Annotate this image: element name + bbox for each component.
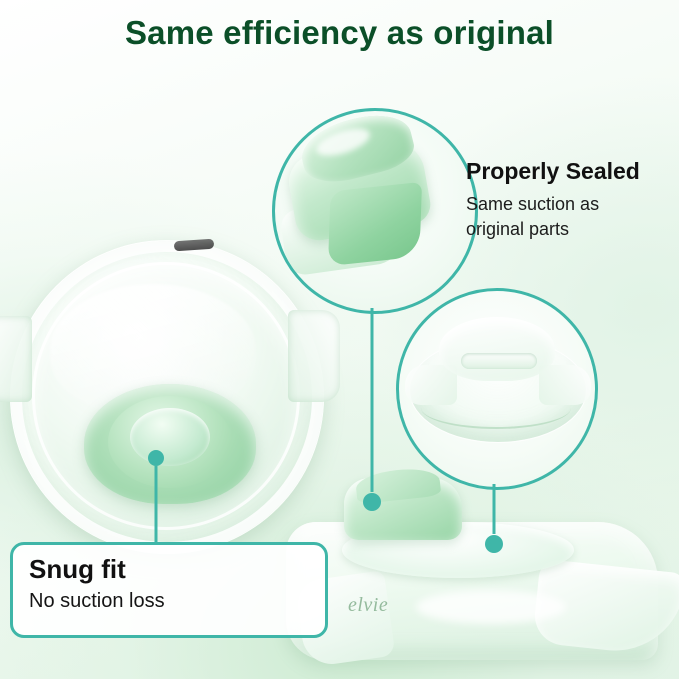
- connector-dome: [439, 317, 555, 381]
- silicone-valve-core: [130, 408, 210, 466]
- brand-logo: elvie: [348, 594, 388, 617]
- zoom-circle-clear-connector: [396, 288, 598, 490]
- callout-heading-properly-sealed: Properly Sealed: [466, 158, 676, 184]
- shield-tab-left: [0, 316, 32, 402]
- callout-snug-fit: Snug fit No suction loss: [10, 542, 328, 638]
- product-infographic: Same efficiency as original: [0, 0, 679, 679]
- callout-subtext-snug-fit: No suction loss: [29, 590, 309, 613]
- connector-edge: [421, 387, 571, 429]
- seal-fin: [328, 182, 422, 266]
- callout-heading-snug-fit: Snug fit: [29, 555, 309, 584]
- shield-tab-right: [288, 310, 340, 402]
- callout-properly-sealed: Properly Sealed Same suction as original…: [466, 158, 676, 241]
- callout-subtext-line1: Same suction as: [466, 192, 676, 216]
- pump-highlight: [416, 590, 566, 624]
- connector-slit: [461, 353, 537, 369]
- page-title: Same efficiency as original: [0, 14, 679, 52]
- assembled-pump-photo: elvie: [286, 470, 676, 670]
- callout-subtext-line2: original parts: [466, 217, 676, 241]
- zoom-circle-silicone-seal: [272, 108, 478, 314]
